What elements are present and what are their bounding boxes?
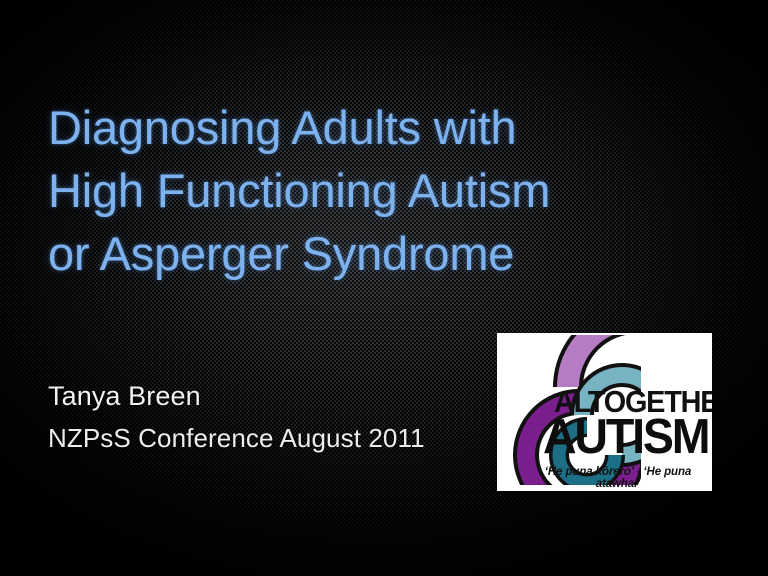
presenter-name: Tanya Breen xyxy=(48,379,201,413)
slide-content: Diagnosing Adults with High Functioning … xyxy=(0,0,768,576)
logo-line-autism: AUTISM xyxy=(543,413,708,462)
event-subtitle: NZPsS Conference August 2011 xyxy=(48,421,425,455)
slide-title: Diagnosing Adults with High Functioning … xyxy=(48,96,708,285)
altogether-autism-logo: ALTOGETHER AUTISM ‘He puna kōrero’ - ‘He… xyxy=(497,333,712,491)
presentation-slide: Diagnosing Adults with High Functioning … xyxy=(0,0,768,576)
logo-tagline: ‘He puna kōrero’ - ‘He puna atawhai’ xyxy=(529,466,707,490)
